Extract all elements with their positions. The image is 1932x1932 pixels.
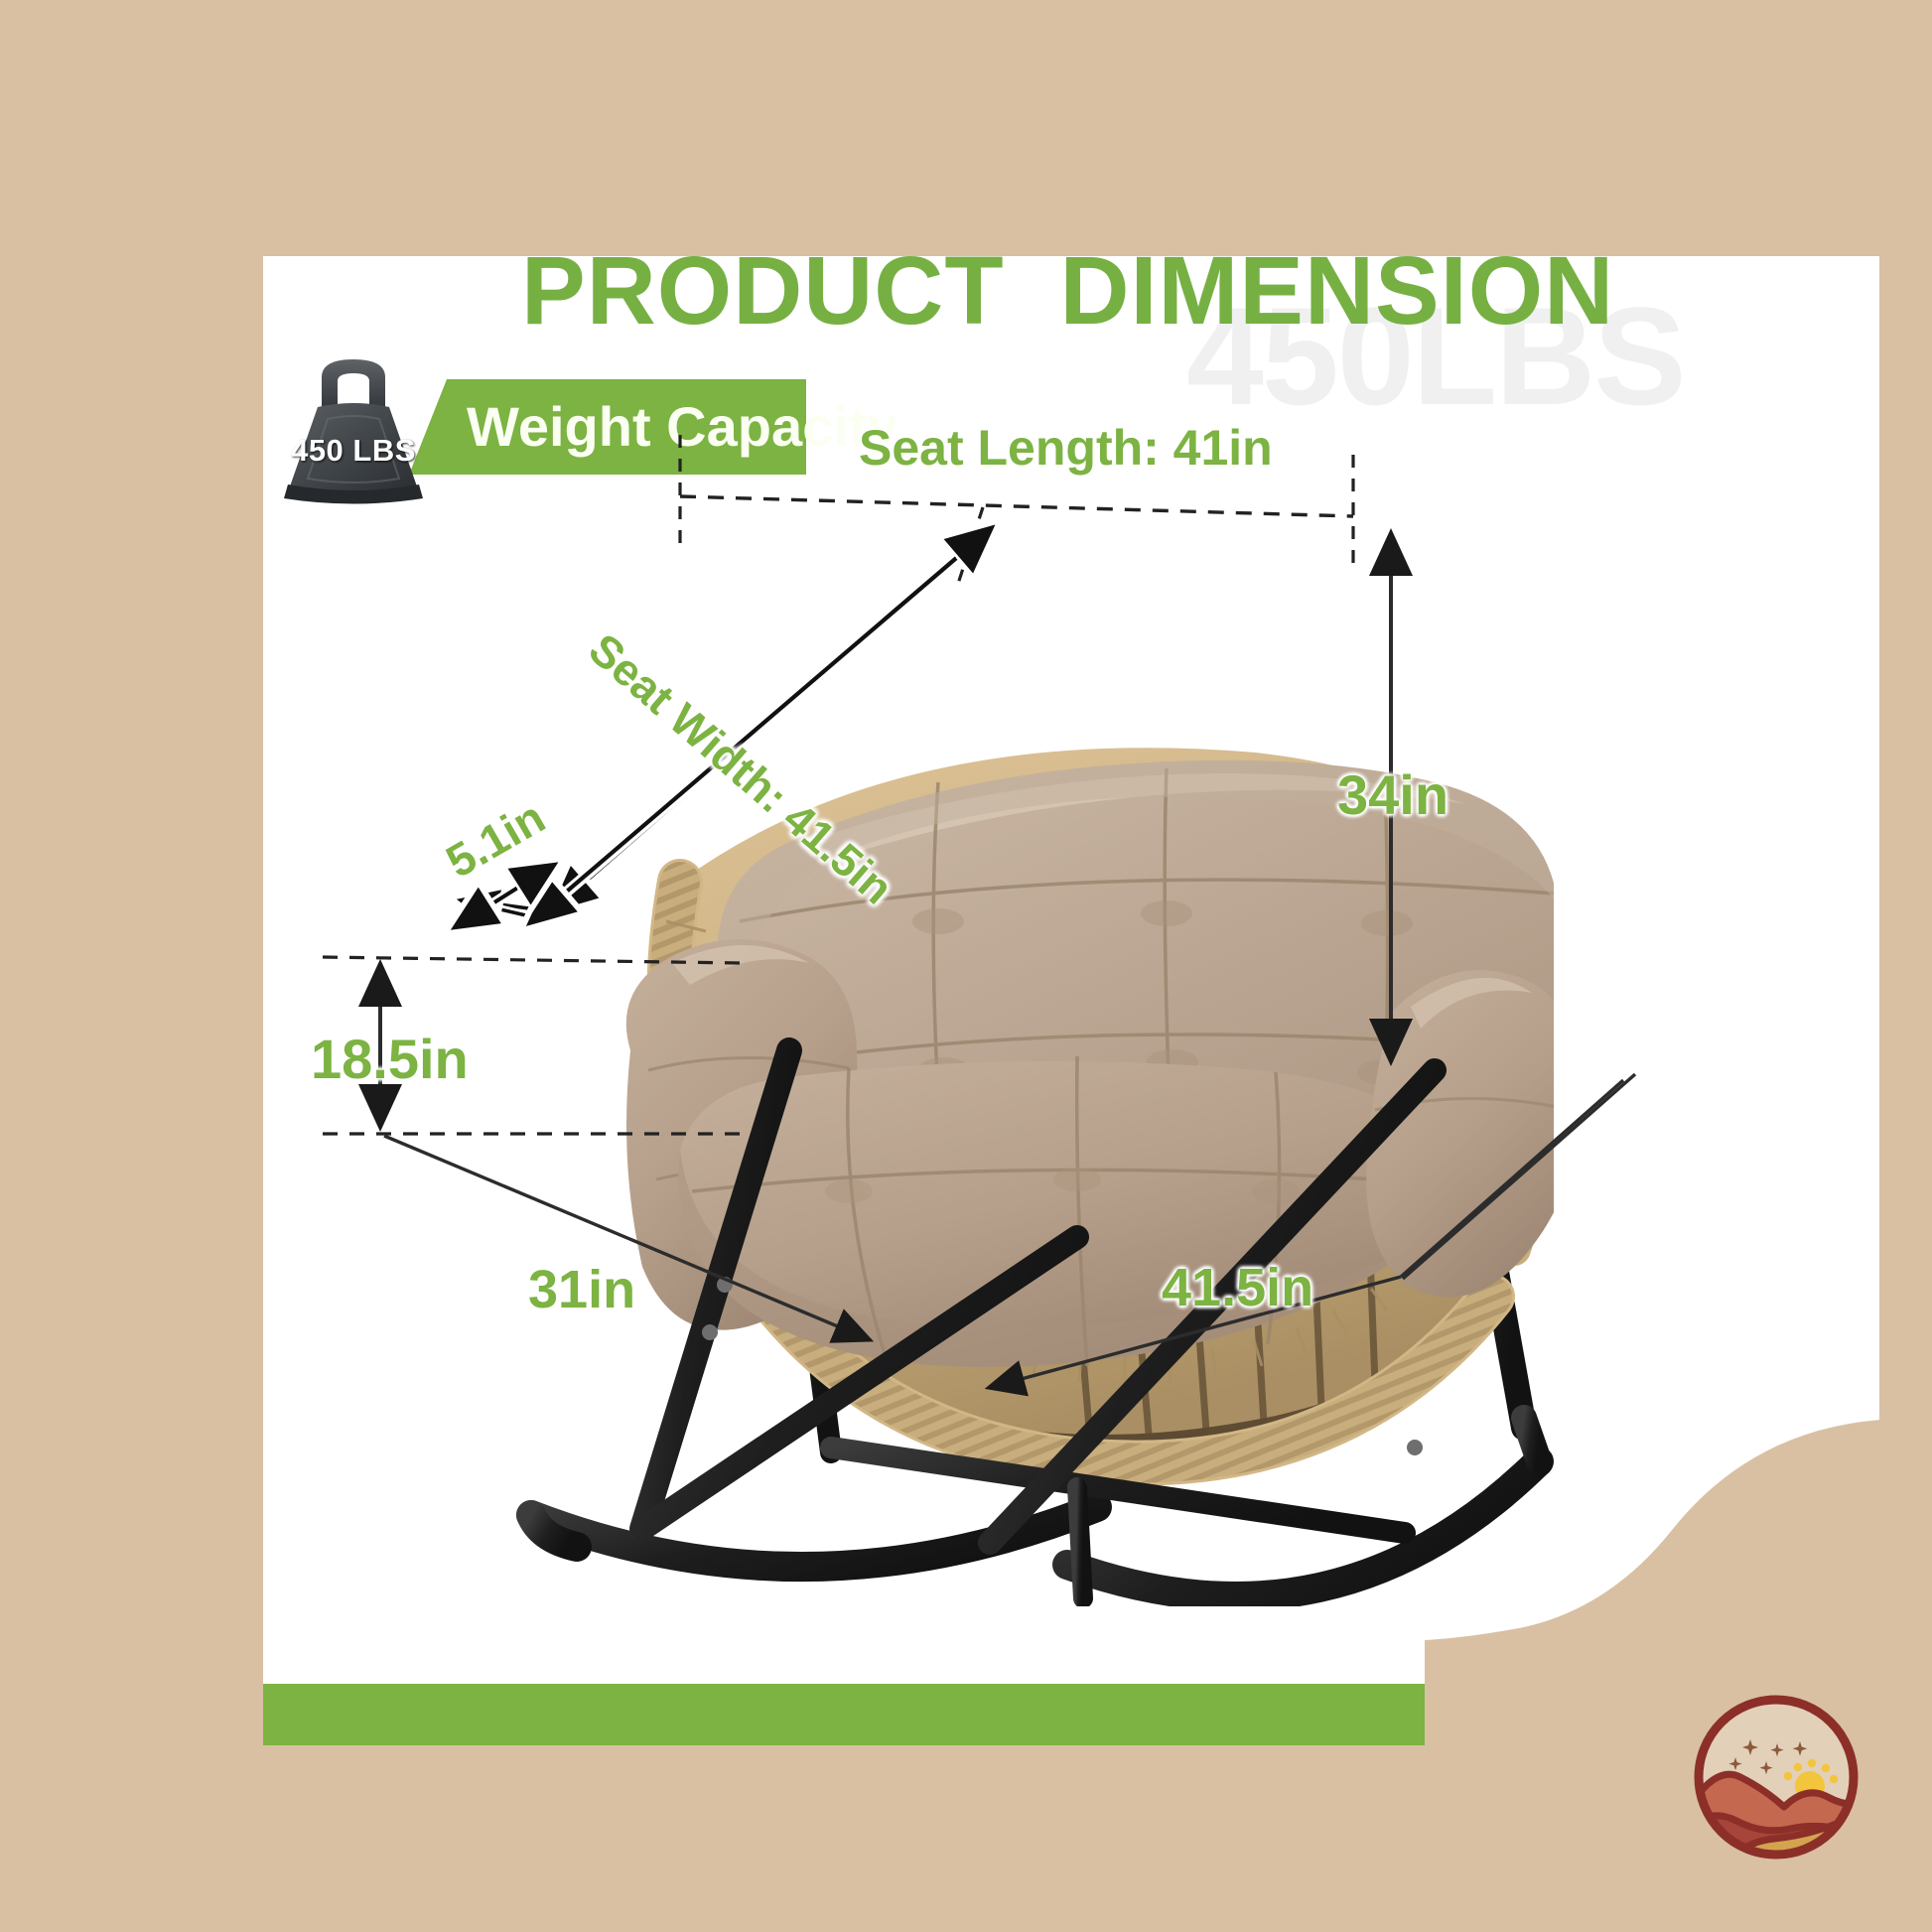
page-title: PRODUCT DIMENSION: [521, 256, 1614, 342]
overall-diagonal-label: 41.5in: [1162, 1257, 1313, 1318]
desert-dunes-circle-logo: [1679, 1680, 1873, 1874]
product-dimension-card: 450LBS PRODUCT DIMENSION: [263, 256, 1879, 1745]
chair-right-arm-cushion: [1366, 970, 1554, 1297]
overall-depth-label: 31in: [528, 1259, 635, 1320]
weight-capacity-label: Weight Capacity: [467, 394, 898, 459]
wicker-papasan-rocking-chair-image: [382, 455, 1554, 1606]
bottom-green-band: [263, 1684, 1879, 1745]
seat-length-label: Seat Length: 41in: [859, 419, 1273, 477]
overall-height-label: 34in: [1337, 762, 1449, 827]
seat-height-label: 18.5in: [311, 1027, 469, 1091]
